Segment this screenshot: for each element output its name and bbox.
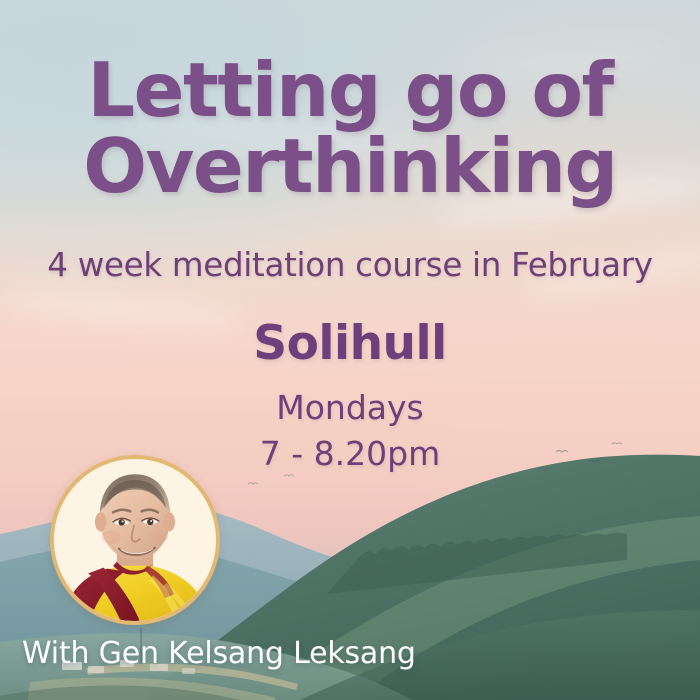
headline-block: Letting go of Overthinking (0, 54, 700, 203)
avatar (50, 455, 220, 625)
location-heading: Solihull (0, 316, 700, 371)
course-subtitle: 4 week meditation course in February (0, 246, 700, 284)
event-poster: Letting go of Overthinking 4 week medita… (0, 0, 700, 700)
headline-line-2: Overthinking (0, 130, 700, 204)
presenter-name: With Gen Kelsang Leksang (22, 636, 416, 671)
page-title: Letting go of Overthinking (0, 54, 700, 203)
headline-line-1: Letting go of (87, 46, 612, 134)
schedule-day: Mondays (0, 388, 700, 427)
